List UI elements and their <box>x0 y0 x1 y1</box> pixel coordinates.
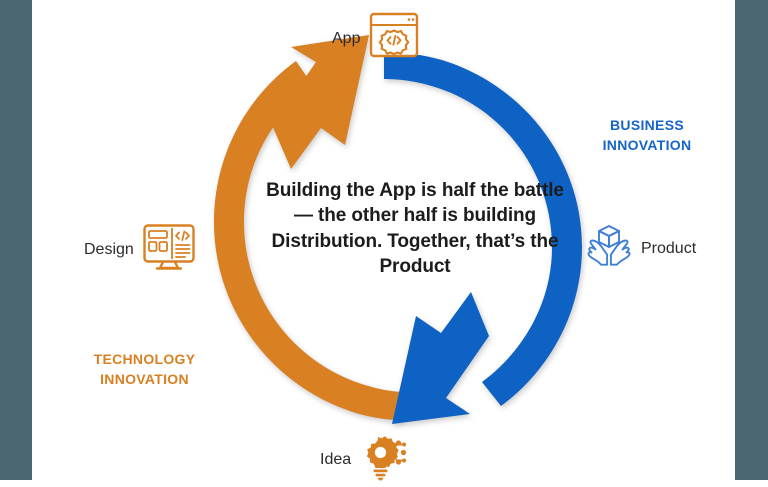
blue-arrow-head <box>392 292 489 424</box>
right-rail <box>735 0 768 480</box>
node-product[interactable]: Product <box>584 222 696 275</box>
diagram-canvas: Building the App is half the battle — th… <box>0 0 768 480</box>
node-design-label: Design <box>84 241 134 259</box>
hands-holding-box-icon <box>584 222 634 275</box>
node-app[interactable]: App <box>332 10 421 67</box>
cycle-diagram: Building the App is half the battle — th… <box>32 0 735 480</box>
caption-business-innovation: BUSINESS INNOVATION <box>567 116 727 156</box>
node-product-label: Product <box>641 240 696 258</box>
caption-technology-innovation: TECHNOLOGY INNOVATION <box>52 350 237 390</box>
left-rail <box>0 0 32 480</box>
lightbulb-gear-network-icon <box>358 432 410 487</box>
node-app-label: App <box>332 30 360 48</box>
center-statement: Building the App is half the battle — th… <box>255 178 575 279</box>
node-idea-label: Idea <box>320 451 351 469</box>
monitor-wireframe-code-icon <box>141 222 197 277</box>
app-window-code-icon <box>367 10 421 67</box>
node-design[interactable]: Design <box>84 222 197 277</box>
node-idea[interactable]: Idea <box>320 432 410 487</box>
